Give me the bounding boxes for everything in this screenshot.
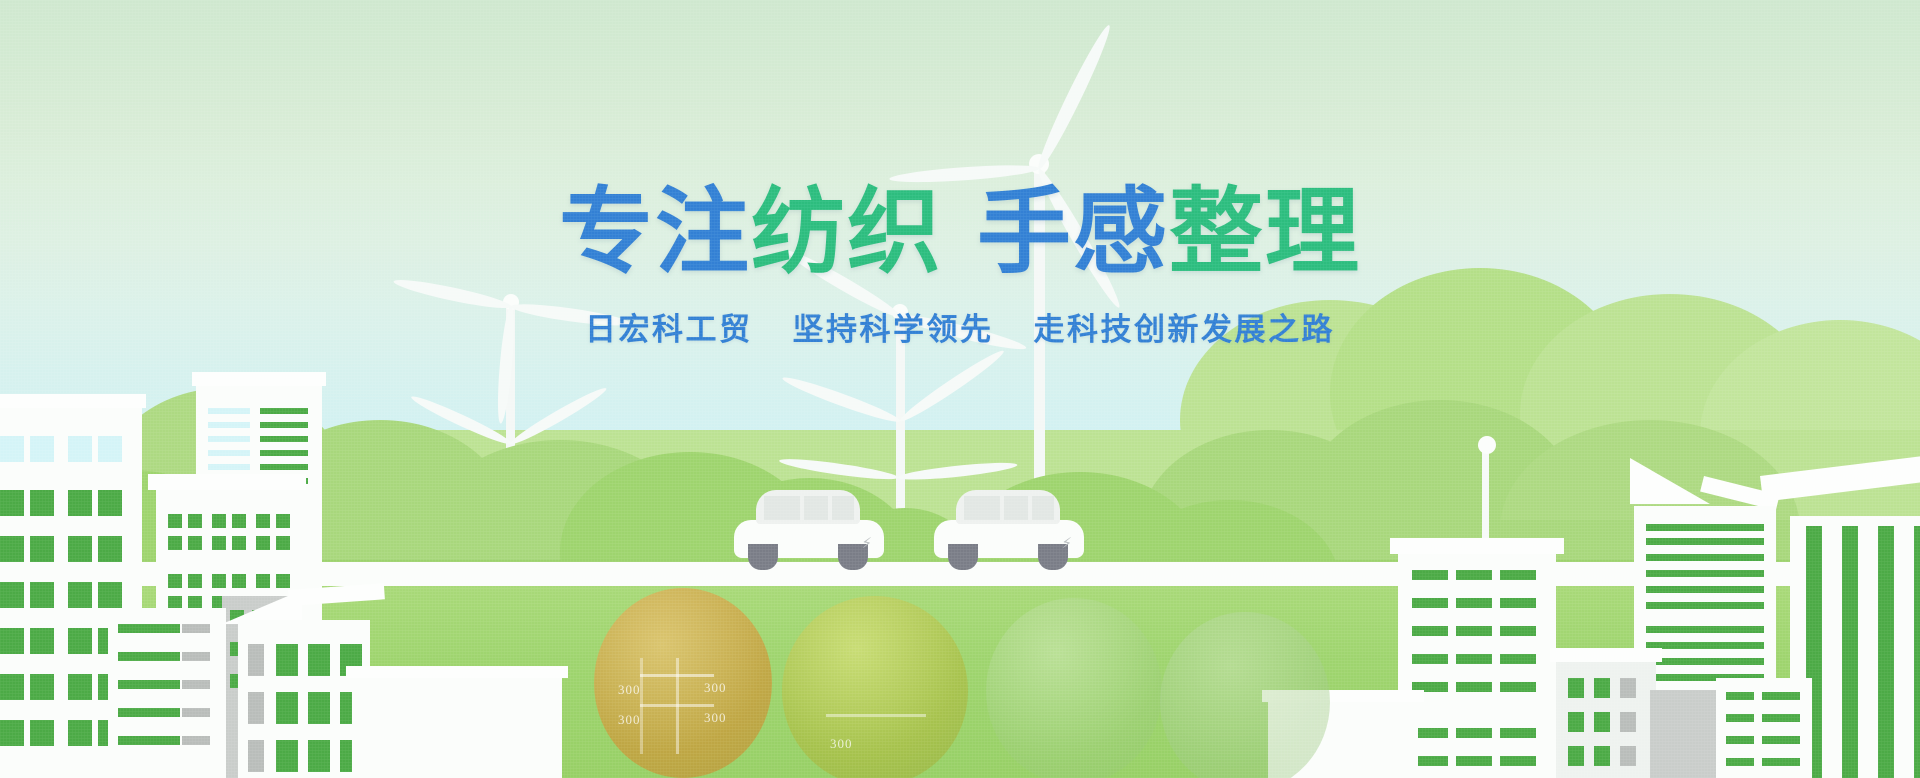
hero-banner: ⚡ ⚡ 300 300 300 300 xyxy=(0,0,1920,778)
headline-seg-shougan: 手感 xyxy=(977,186,1169,280)
subtitle-part-company: 日宏科工贸 xyxy=(585,312,753,348)
headline-seg-zhuanzhu: 专注 xyxy=(559,186,751,280)
page-subtitle: 日宏科工贸坚持科学领先走科技创新发展之路 xyxy=(585,304,1335,349)
subtitle-part-slogan-2: 走科技创新发展之路 xyxy=(1034,312,1336,348)
headline-seg-fangzhi: 纺织 xyxy=(751,186,943,280)
headline-container: 专注纺织手感整理 xyxy=(0,186,1920,280)
banner-text-layer: 专注纺织手感整理 日宏科工贸坚持科学领先走科技创新发展之路 xyxy=(0,0,1920,778)
headline-seg-zhengli: 整理 xyxy=(1169,186,1361,280)
subtitle-part-slogan-1: 坚持科学领先 xyxy=(793,312,994,348)
page-title: 专注纺织手感整理 xyxy=(559,186,1361,280)
subtitle-container: 日宏科工贸坚持科学领先走科技创新发展之路 xyxy=(0,304,1920,349)
